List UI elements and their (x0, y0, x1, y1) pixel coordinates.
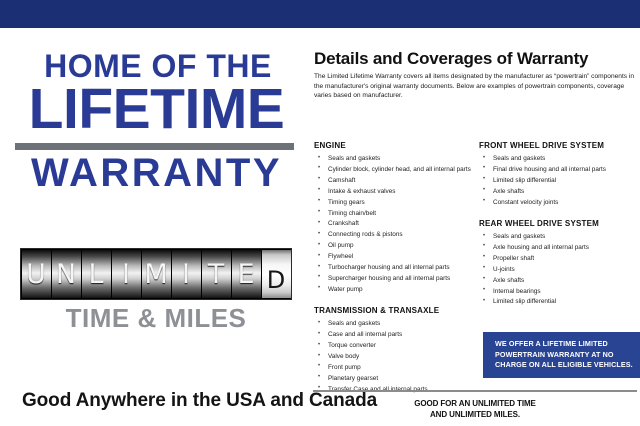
spec-list-item: Front pump (314, 363, 474, 372)
spec-list-item: Connecting rods & pistons (314, 230, 474, 239)
spec-list: Seals and gasketsFinal drive housing and… (479, 154, 639, 207)
spec-list-item: Timing gears (314, 198, 474, 207)
spec-column-left: ENGINESeals and gasketsCylinder block, c… (314, 140, 474, 405)
spec-list-item: Seals and gaskets (314, 154, 474, 163)
spec-list-item: Propeller shaft (479, 254, 639, 263)
odometer-digit: I (112, 250, 141, 298)
callout-line-1: WE OFFER A LIFETIME LIMITED (495, 339, 640, 350)
callout-line-3: CHARGE ON ALL ELIGIBLE VEHICLES. (495, 360, 640, 371)
spec-heading: ENGINE (314, 140, 474, 151)
spec-list-item: Camshaft (314, 176, 474, 185)
spec-list-item: Crankshaft (314, 219, 474, 228)
warranty-poster: HOME OF THE LIFETIME WARRANTY U N L I M … (0, 0, 640, 426)
spec-list-item: Cylinder block, cylinder head, and all i… (314, 165, 474, 174)
spec-list-item: Flywheel (314, 252, 474, 261)
spec-list: Seals and gasketsCylinder block, cylinde… (314, 154, 474, 294)
spec-list-item: Water pump (314, 285, 474, 294)
spec-block: ENGINESeals and gasketsCylinder block, c… (314, 140, 474, 294)
spec-list-item: Constant velocity joints (479, 198, 639, 207)
spec-list-item: Planetary gearset (314, 374, 474, 383)
odometer-digit: U (22, 250, 51, 298)
spec-block: FRONT WHEEL DRIVE SYSTEMSeals and gasket… (479, 140, 639, 207)
spec-list-item: Supercharger housing and all internal pa… (314, 274, 474, 283)
spec-column-right: FRONT WHEEL DRIVE SYSTEMSeals and gasket… (479, 140, 639, 318)
spec-list-item: Limited slip differential (479, 297, 639, 306)
odometer-digit: N (52, 250, 81, 298)
spec-heading: FRONT WHEEL DRIVE SYSTEM (479, 140, 639, 151)
odometer-digit: M (142, 250, 171, 298)
footer-line-2: AND UNLIMITED MILES. (313, 409, 637, 420)
spec-list-item: Axle shafts (479, 276, 639, 285)
top-blue-bar (0, 0, 640, 28)
spec-list: Seals and gasketsAxle housing and all in… (479, 232, 639, 307)
hero-panel: HOME OF THE LIFETIME WARRANTY U N L I M … (0, 28, 310, 426)
spec-list-item: Intake & exhaust valves (314, 187, 474, 196)
spec-list-item: Axle shafts (479, 187, 639, 196)
spec-list: Seals and gasketsCase and all internal p… (314, 319, 474, 394)
spec-list-item: Limited slip differential (479, 176, 639, 185)
spec-list-item: Axle housing and all internal parts (479, 243, 639, 252)
spec-heading: TRANSMISSION & TRANSAXLE (314, 305, 474, 316)
odometer-graphic: U N L I M I T E D (20, 248, 292, 300)
details-panel: Details and Coverages of Warranty The Li… (310, 28, 640, 426)
callout-line-2: POWERTRAIN WARRANTY AT NO (495, 350, 640, 361)
spec-list-item: Turbocharger housing and all internal pa… (314, 263, 474, 272)
details-title: Details and Coverages of Warranty (314, 49, 588, 69)
spec-list-item: Final drive housing and all internal par… (479, 165, 639, 174)
spec-heading: REAR WHEEL DRIVE SYSTEM (479, 218, 639, 229)
odometer-digit: L (82, 250, 111, 298)
spec-list-item: U-joints (479, 265, 639, 274)
details-body-text: The Limited Lifetime Warranty covers all… (314, 72, 636, 101)
odometer-digit: D (262, 250, 291, 298)
spec-block: REAR WHEEL DRIVE SYSTEMSeals and gaskets… (479, 218, 639, 307)
spec-list-item: Valve body (314, 352, 474, 361)
odometer-digit: E (232, 250, 261, 298)
spec-list-item: Seals and gaskets (479, 154, 639, 163)
spec-list-item: Seals and gaskets (314, 319, 474, 328)
spec-list-item: Timing chain/belt (314, 209, 474, 218)
footer-divider-rule (313, 390, 637, 392)
spec-list-item: Torque converter (314, 341, 474, 350)
spec-list-item: Case and all internal parts (314, 330, 474, 339)
footer-line-1: GOOD FOR AN UNLIMITED TIME (313, 398, 637, 409)
spec-list-item: Oil pump (314, 241, 474, 250)
callout-box: WE OFFER A LIFETIME LIMITED POWERTRAIN W… (483, 332, 640, 378)
hero-line-lifetime: LIFETIME (14, 80, 299, 138)
odometer-digit: I (172, 250, 201, 298)
spec-block: TRANSMISSION & TRANSAXLESeals and gasket… (314, 305, 474, 394)
time-and-miles-label: TIME & MILES (20, 304, 292, 332)
hero-line-warranty: WARRANTY (14, 152, 299, 194)
hero-divider-rule (15, 143, 294, 150)
odometer-digit: T (202, 250, 231, 298)
spec-list-item: Internal bearings (479, 287, 639, 296)
spec-list-item: Seals and gaskets (479, 232, 639, 241)
footer-note: GOOD FOR AN UNLIMITED TIME AND UNLIMITED… (313, 398, 637, 420)
